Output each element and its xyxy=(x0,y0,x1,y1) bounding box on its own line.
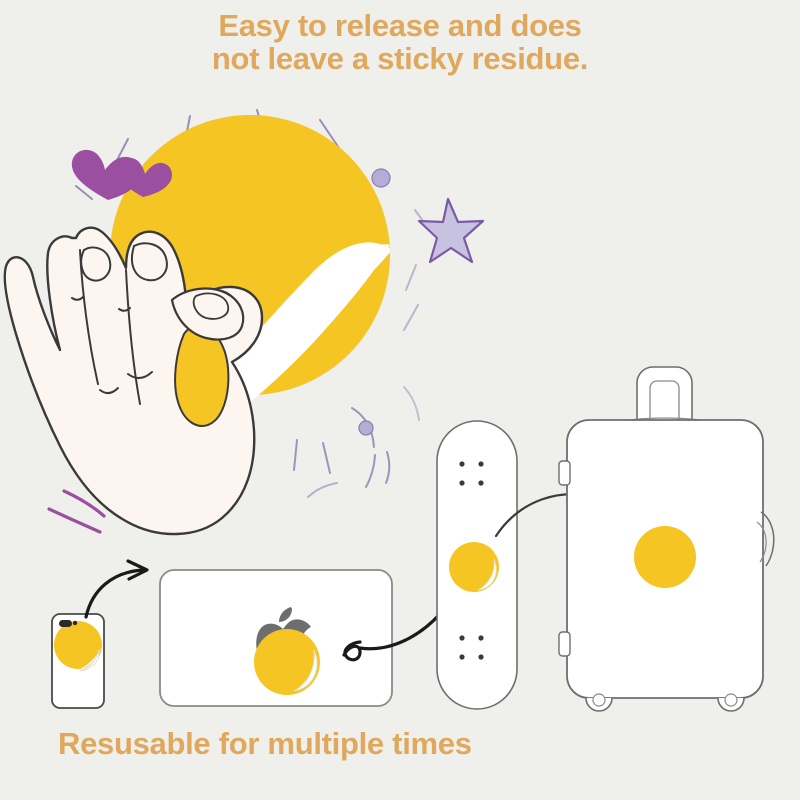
dot-icon xyxy=(359,421,373,435)
wheel-hub xyxy=(725,694,737,706)
mount-hole xyxy=(459,461,464,466)
sparkle-stroke xyxy=(404,387,419,420)
device-suitcase[interactable] xyxy=(559,367,774,711)
phone-camera-dot xyxy=(73,621,77,625)
suitcase-latch xyxy=(559,461,570,485)
sparkle-stroke xyxy=(294,440,297,470)
device-skateboard[interactable] xyxy=(437,421,517,709)
phone-camera-bar xyxy=(59,620,72,627)
suitcase-latch xyxy=(559,632,570,656)
sparkle-strokes-lower-group xyxy=(294,387,419,497)
sparkle-ray xyxy=(406,265,416,290)
sparkle-stroke xyxy=(308,483,337,497)
sparkle-stroke xyxy=(366,455,375,487)
pinched-sticker-sliver xyxy=(175,326,228,426)
suitcase-sticker xyxy=(634,526,696,588)
wheel-hub xyxy=(593,694,605,706)
laptop-sticker xyxy=(254,629,320,695)
mount-hole xyxy=(478,480,483,485)
mount-hole xyxy=(459,480,464,485)
mount-hole xyxy=(459,654,464,659)
arrow-phone-to-laptop xyxy=(86,561,147,617)
dot-icon xyxy=(372,169,390,187)
mount-hole xyxy=(459,635,464,640)
sparkle-ray xyxy=(404,305,418,330)
device-laptop[interactable] xyxy=(160,570,392,706)
illustration-layer xyxy=(0,0,800,800)
page-title-bottom: Resusable for multiple times xyxy=(0,728,800,761)
sparkle-stroke xyxy=(323,443,330,473)
mount-hole xyxy=(478,654,483,659)
star-icon xyxy=(419,199,483,262)
mount-hole xyxy=(478,635,483,640)
sparkle-stroke xyxy=(386,452,389,483)
skateboard-sticker xyxy=(449,542,499,592)
fingernail xyxy=(81,247,110,280)
device-phone[interactable] xyxy=(52,614,104,708)
fingernail xyxy=(132,243,167,280)
motion-curve xyxy=(49,509,100,532)
poster-canvas: Easy to release and does not leave a sti… xyxy=(0,0,800,800)
mount-hole xyxy=(478,461,483,466)
